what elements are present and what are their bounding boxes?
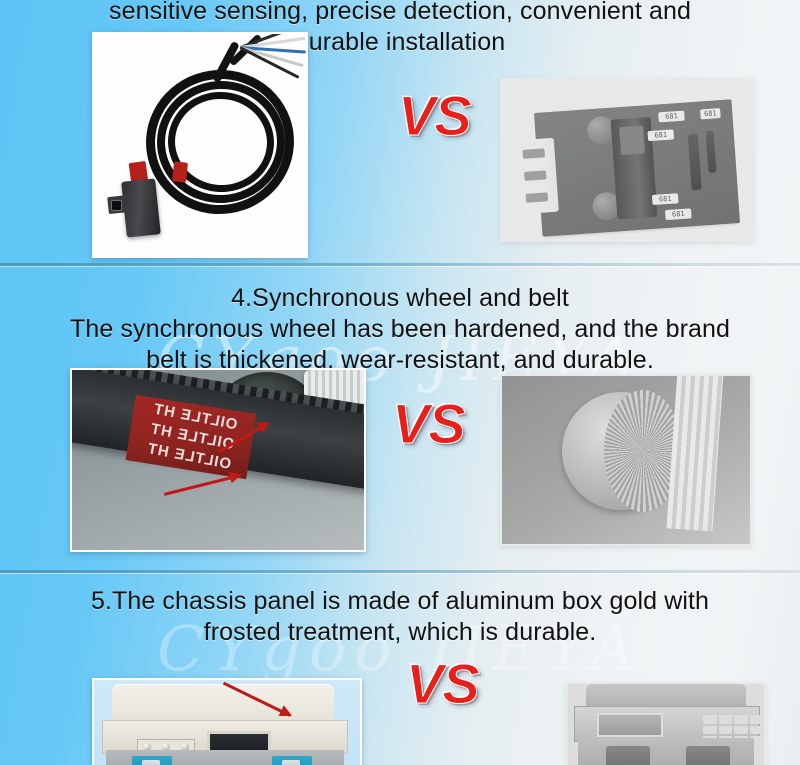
pcb-electrolytic-cap xyxy=(688,134,702,191)
timing-belt-photo-inner: OILTLE HT OILTLE HT OILTLE HT xyxy=(72,370,364,550)
infographic-page: sensitive sensing, precise detection, co… xyxy=(0,0,800,765)
pcb-board: 681 681 681 681 681 xyxy=(534,99,740,237)
pcb-resistor-tall xyxy=(706,131,717,173)
machine-base xyxy=(106,750,344,765)
section-sensor-heading-line-1: sensitive sensing, precise detection, co… xyxy=(0,0,800,27)
pcb-connector xyxy=(512,138,559,215)
pcb-chip-681-d: 681 xyxy=(665,208,692,220)
machine-feeder-left xyxy=(132,756,172,765)
generic-pulley-photo xyxy=(500,374,752,546)
sensor-cable-photo xyxy=(92,32,308,258)
section-chassis-heading: 5.The chassis panel is made of aluminum … xyxy=(0,586,800,648)
keypad-key[interactable] xyxy=(703,726,717,735)
sensor-lens xyxy=(111,200,122,211)
aluminum-chassis-machine-photo xyxy=(92,678,362,765)
generic-machine-head-left xyxy=(606,746,650,765)
pcb-pin-3 xyxy=(526,192,549,203)
divider-1 xyxy=(0,263,800,266)
section-chassis-heading-line-2: frosted treatment, which is durable. xyxy=(0,617,800,648)
generic-machine-photo xyxy=(566,682,766,765)
keypad-key[interactable] xyxy=(765,726,766,735)
circuit-board-photo-inner: 681 681 681 681 681 xyxy=(502,80,752,240)
pcb-pin-1 xyxy=(522,148,545,159)
section-belt-heading-line-2: The synchronous wheel has been hardened,… xyxy=(0,314,800,345)
callout-arrow-belt xyxy=(164,474,240,496)
generic-machine-photo-inner xyxy=(568,684,764,765)
keypad-key[interactable] xyxy=(734,715,748,724)
section-chassis-heading-line-1: 5.The chassis panel is made of aluminum … xyxy=(0,586,800,617)
keypad-key[interactable] xyxy=(719,715,733,724)
keypad-key[interactable] xyxy=(719,726,733,735)
section-belt-heading: 4.Synchronous wheel and belt The synchro… xyxy=(0,283,800,376)
generic-belt-strip xyxy=(666,374,723,531)
generic-pulley-photo-inner xyxy=(502,376,750,544)
divider-2 xyxy=(0,570,800,573)
keypad-key[interactable] xyxy=(765,715,766,724)
pcb-chip-681-c: 681 xyxy=(652,193,679,205)
generic-machine-base xyxy=(578,738,754,765)
generic-machine-panel xyxy=(574,706,760,742)
machine-feeder-jaw-left xyxy=(142,760,160,765)
sensor-cable-photo-inner xyxy=(94,34,306,256)
machine-feeder-right xyxy=(272,756,312,765)
machine-feeder-jaw-right xyxy=(282,760,300,765)
machine-control-panel xyxy=(102,720,348,754)
vs-badge-sensor: VS xyxy=(398,88,471,144)
cable-tie-red-2 xyxy=(172,161,188,182)
pcb-chip-681-b: 681 xyxy=(647,129,674,141)
keypad-key[interactable] xyxy=(734,726,748,735)
generic-machine-display xyxy=(597,713,663,737)
pcb-pin-2 xyxy=(524,170,547,181)
pcb-chip-681-a: 681 xyxy=(658,111,685,123)
pcb-transistor-tab xyxy=(619,125,645,155)
section-belt-heading-line-1: 4.Synchronous wheel and belt xyxy=(0,283,800,314)
generic-machine-head-right xyxy=(686,746,730,765)
circuit-board-photo: 681 681 681 681 681 xyxy=(500,78,754,242)
keypad-key[interactable] xyxy=(765,736,766,745)
keypad-key[interactable] xyxy=(750,715,764,724)
pcb-chip-681-e: 681 xyxy=(700,108,721,119)
aluminum-chassis-machine-inner xyxy=(94,680,360,765)
keypad-key[interactable] xyxy=(750,726,764,735)
vs-badge-belt: VS xyxy=(392,396,465,452)
keypad-key[interactable] xyxy=(703,715,717,724)
timing-belt-photo: OILTLE HT OILTLE HT OILTLE HT xyxy=(70,368,366,552)
vs-badge-chassis: VS xyxy=(406,656,479,712)
cable-wire-fan xyxy=(240,32,308,72)
